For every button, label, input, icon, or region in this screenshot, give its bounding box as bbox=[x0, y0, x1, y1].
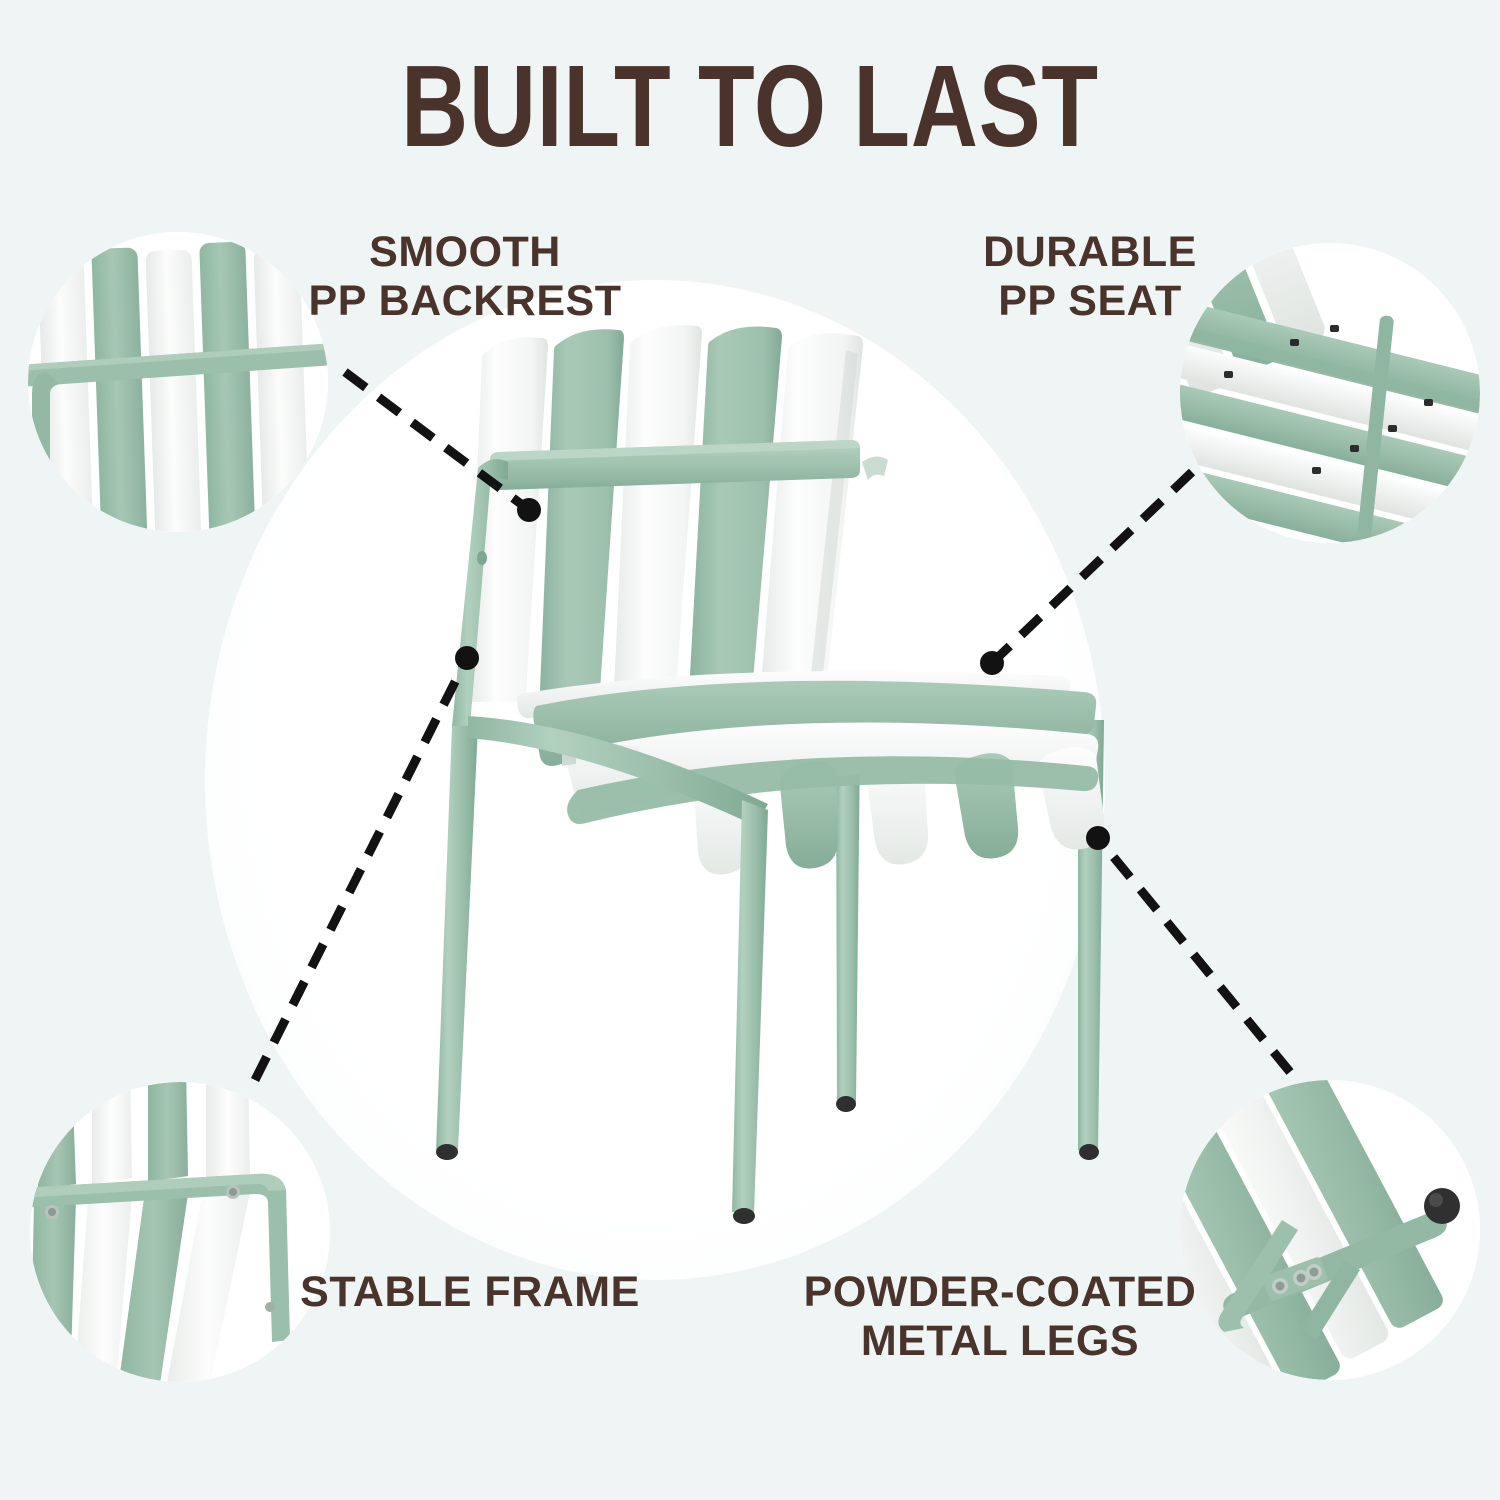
infographic-canvas: BUILT TO LAST bbox=[0, 0, 1500, 1500]
pointer-dot-seat bbox=[980, 651, 1004, 675]
leader-line-seat bbox=[992, 472, 1192, 663]
pointer-leaders bbox=[0, 0, 1500, 1500]
pointer-dot-frame bbox=[455, 646, 479, 670]
leader-line-frame bbox=[255, 658, 467, 1080]
pointer-dot-legs bbox=[1086, 826, 1110, 850]
pointer-dot-backrest bbox=[517, 498, 541, 522]
leader-line-legs bbox=[1098, 838, 1290, 1072]
leader-line-backrest bbox=[345, 372, 529, 510]
